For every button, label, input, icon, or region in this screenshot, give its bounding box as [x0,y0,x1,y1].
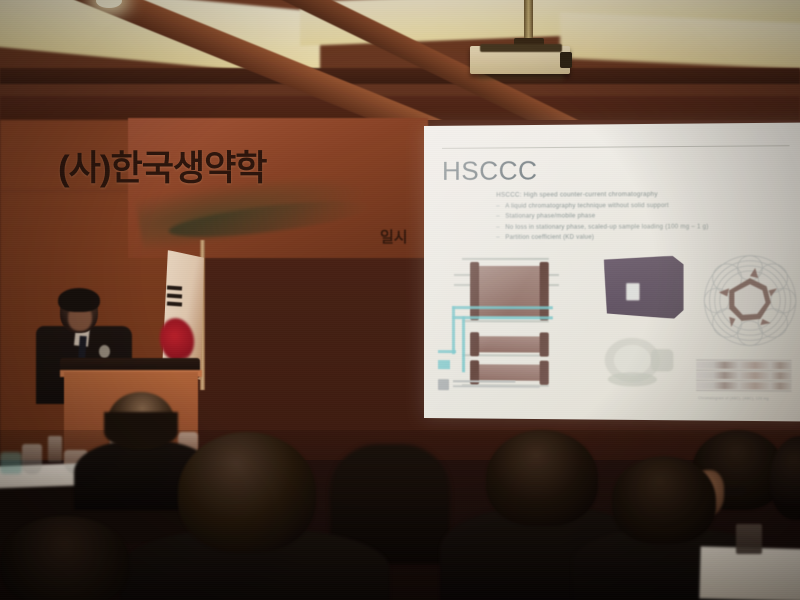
presentation-slide: HSCCC HSCCC: High speed counter-current … [424,122,800,421]
banquet-table [699,546,800,600]
ceiling [0,0,800,132]
instrument-front-panel [626,283,639,300]
table-item [0,452,22,474]
slide-bullet: Stationary phase/mobile phase [496,213,794,220]
presentation-photo: (사)한국생약학 일시 HSCCC HSCCC: High speed coun… [0,0,800,600]
chromatogram-strips: Chromatogram of (ABC), (ABC), 120 mg [696,359,800,403]
banner-subtitle: 일시 [380,226,408,247]
hsccc-instrument-photo [604,256,684,319]
multilayer-coil-cross-section [700,252,800,350]
speaker-badge [99,345,110,358]
logo-mark-icon [438,379,449,390]
slide-bullet: No loss in stationary phase, scaled-up s… [496,223,794,230]
institution-logo [438,378,559,395]
banner-title: (사)한국생약학 [58,140,267,191]
ceiling-beam [0,68,800,84]
slide-bullet: Partition coefficient (KD value) [496,234,794,241]
logo-text-line [453,385,540,388]
audience-hair [104,412,178,448]
coil-bobbin-photo [602,333,680,388]
ceiling-light-panel [560,12,800,70]
slide-bullet-list: HSCCC: High speed counter-current chroma… [496,190,794,245]
projector-lens [560,52,572,68]
logo-text-line [453,380,515,382]
slide-bullet: A liquid chromatography technique withou… [496,202,794,209]
slide-title: HSCCC [442,155,538,187]
slide-title-rule [442,145,790,149]
wine-glass [22,444,42,474]
projection-screen: HSCCC HSCCC: High speed counter-current … [424,122,800,421]
audience-head [0,516,130,600]
audience-head [178,432,316,552]
speaker-hair [58,288,100,312]
audience-head [486,430,598,526]
projector-top-plate [480,44,562,52]
slide-lead-text: HSCCC: High speed counter-current chroma… [496,190,794,199]
tumbler-glass [736,524,762,554]
wine-glass [48,436,62,462]
audience-head [612,456,716,544]
figure-caption: Chromatogram of (ABC), (ABC), 120 mg [698,396,769,401]
